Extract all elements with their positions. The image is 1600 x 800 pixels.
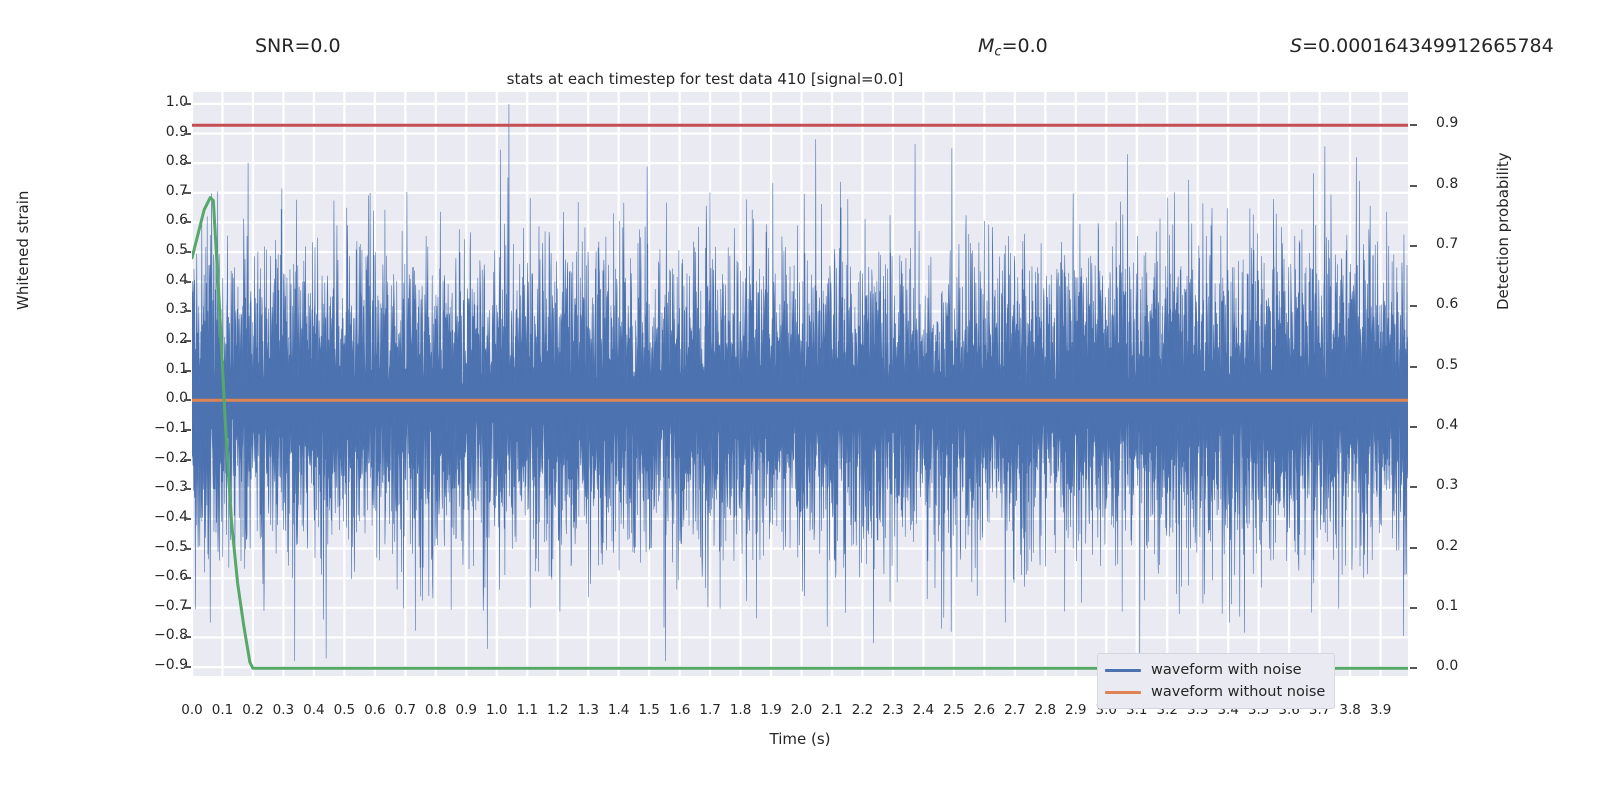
x-axis-tick-label: 2.8 [1035,702,1056,718]
chirp-mass-subscript: c [994,44,1001,59]
x-axis-tick-label: 1.7 [699,702,720,718]
x-axis-tick-label: 0.7 [395,702,416,718]
y-axis-right-tick-label: 0.1 [1436,598,1458,614]
y-axis-left-tick-label: 0.9 [166,124,188,140]
x-axis-tick-label: 2.6 [974,702,995,718]
x-axis-tick-label: 0.2 [242,702,263,718]
y-axis-left-tick-label: 0.2 [166,331,188,347]
y-axis-right-tick-mark [1410,667,1417,669]
y-axis-left-tick-mark [184,133,191,135]
x-axis-tick-label: 2.7 [1004,702,1025,718]
y-axis-right-tick-label: 0.6 [1436,296,1458,312]
chirp-mass-annotation: Mc=0.0 [978,35,1048,59]
y-axis-right-label: Detection probability [1494,152,1512,310]
y-axis-left-tick-label: −0.4 [154,509,188,525]
y-axis-left-tick-label: −0.1 [154,420,188,436]
y-axis-left-tick-mark [184,103,191,105]
y-axis-left-tick-label: 0.4 [166,272,188,288]
chart-title: stats at each timestep for test data 410… [0,70,1410,88]
y-axis-right-tick-label: 0.2 [1436,538,1458,554]
y-axis-left-tick-label: 0.5 [166,242,188,258]
chirp-mass-equals: = [1002,35,1018,57]
x-axis-tick-label: 0.9 [456,702,477,718]
y-axis-right-tick-label: 0.4 [1436,417,1458,433]
legend-item-label: waveform with noise [1151,662,1302,678]
y-axis-right-tick-mark [1410,607,1417,609]
x-axis-tick-label: 1.8 [730,702,751,718]
chirp-mass-value: 0.0 [1017,35,1047,57]
x-axis-tick-label: 1.4 [608,702,629,718]
x-axis-tick-label: 2.2 [852,702,873,718]
y-axis-right-tick-label: 0.0 [1436,658,1458,674]
legend-color-swatch [1105,691,1141,694]
snr-annotation: SNR=0.0 [255,35,341,57]
snr-value: 0.0 [310,35,340,57]
x-axis-tick-label: 0.1 [212,702,233,718]
snr-label: SNR= [255,35,310,57]
x-axis-tick-label: 0.5 [334,702,355,718]
y-axis-left-tick-label: 0.6 [166,212,188,228]
figure-canvas: SNR=0.0 Mc=0.0 S=0.000164349912665784 st… [0,0,1600,800]
y-axis-left-tick-label: 0.8 [166,153,188,169]
y-axis-left-tick-label: 0.3 [166,301,188,317]
y-axis-right-tick-mark [1410,185,1417,187]
x-axis-tick-label: 2.5 [943,702,964,718]
statistic-symbol: S [1290,35,1302,57]
x-axis-tick-label: 2.4 [913,702,934,718]
y-axis-left-tick-mark [184,192,191,194]
y-axis-left-tick-label: −0.3 [154,479,188,495]
y-axis-left-tick-mark [184,518,191,520]
y-axis-left-tick-mark [184,577,191,579]
y-axis-right-tick-mark [1410,124,1417,126]
y-axis-left-tick-mark [184,281,191,283]
y-axis-right-tick-label: 0.9 [1436,115,1458,131]
y-axis-left-tick-mark [184,340,191,342]
x-axis-tick-label: 2.0 [791,702,812,718]
x-axis-tick-label: 1.9 [760,702,781,718]
legend-item-label: waveform without noise [1151,684,1325,700]
y-axis-right-tick-mark [1410,305,1417,307]
snr-statistic-annotation: S=0.000164349912665784 [1290,35,1554,57]
y-axis-right-tick-mark [1410,245,1417,247]
y-axis-left-tick-label: −0.9 [154,657,188,673]
y-axis-right-tick-label: 0.8 [1436,176,1458,192]
x-axis-tick-label: 3.9 [1370,702,1391,718]
y-axis-left-tick-mark [184,399,191,401]
y-axis-left-tick-label: 0.0 [166,390,188,406]
y-axis-left-label: Whitened strain [14,191,32,310]
x-axis-tick-label: 1.0 [486,702,507,718]
legend-item[interactable]: waveform without noise [1105,681,1325,703]
y-axis-left-tick-label: 0.1 [166,361,188,377]
x-axis-tick-label: 0.4 [303,702,324,718]
legend-color-swatch [1105,669,1141,672]
legend[interactable]: waveform with noisewaveform without nois… [1097,653,1335,709]
y-axis-left-tick-mark [184,548,191,550]
legend-item[interactable]: waveform with noise [1105,659,1325,681]
plot-area [192,92,1408,676]
y-axis-left-tick-label: 0.7 [166,183,188,199]
x-axis-tick-label: 3.8 [1339,702,1360,718]
y-axis-right-tick-label: 0.5 [1436,357,1458,373]
y-axis-left-tick-mark [184,429,191,431]
y-axis-left-tick-mark [184,666,191,668]
y-axis-right-tick-mark [1410,547,1417,549]
y-axis-left-tick-mark [184,310,191,312]
chirp-mass-symbol: M [978,35,994,57]
x-axis-tick-label: 2.9 [1065,702,1086,718]
y-axis-left-tick-label: −0.6 [154,568,188,584]
statistic-equals: = [1302,35,1318,57]
x-axis-tick-label: 2.1 [821,702,842,718]
y-axis-right-tick-mark [1410,426,1417,428]
y-axis-left-tick-mark [184,607,191,609]
y-axis-left-tick-mark [184,370,191,372]
x-axis-tick-label: 0.0 [181,702,202,718]
y-axis-left-tick-mark [184,636,191,638]
y-axis-left-tick-mark [184,251,191,253]
y-axis-right-tick-label: 0.3 [1436,477,1458,493]
x-axis-tick-label: 0.3 [273,702,294,718]
y-axis-left-tick-mark [184,162,191,164]
y-axis-left-tick-mark [184,488,191,490]
y-axis-left-tick-label: 1.0 [166,94,188,110]
x-axis-tick-label: 1.2 [547,702,568,718]
x-axis-tick-label: 0.6 [364,702,385,718]
y-axis-left-tick-label: −0.5 [154,539,188,555]
y-axis-left-tick-label: −0.8 [154,627,188,643]
y-axis-left-tick-mark [184,221,191,223]
data-series-layer [192,92,1408,676]
x-axis-tick-label: 1.1 [516,702,537,718]
y-axis-right-tick-mark [1410,486,1417,488]
y-axis-right-tick-mark [1410,366,1417,368]
y-axis-right-tick-label: 0.7 [1436,236,1458,252]
y-axis-left-tick-label: −0.7 [154,598,188,614]
y-axis-left-tick-label: −0.2 [154,450,188,466]
x-axis-tick-label: 2.3 [882,702,903,718]
statistic-value: 0.000164349912665784 [1318,35,1554,57]
x-axis-tick-label: 0.8 [425,702,446,718]
x-axis-tick-label: 1.6 [669,702,690,718]
x-axis-tick-label: 1.5 [638,702,659,718]
y-axis-left-tick-mark [184,459,191,461]
x-axis-tick-label: 1.3 [577,702,598,718]
x-axis-label: Time (s) [192,730,1408,748]
